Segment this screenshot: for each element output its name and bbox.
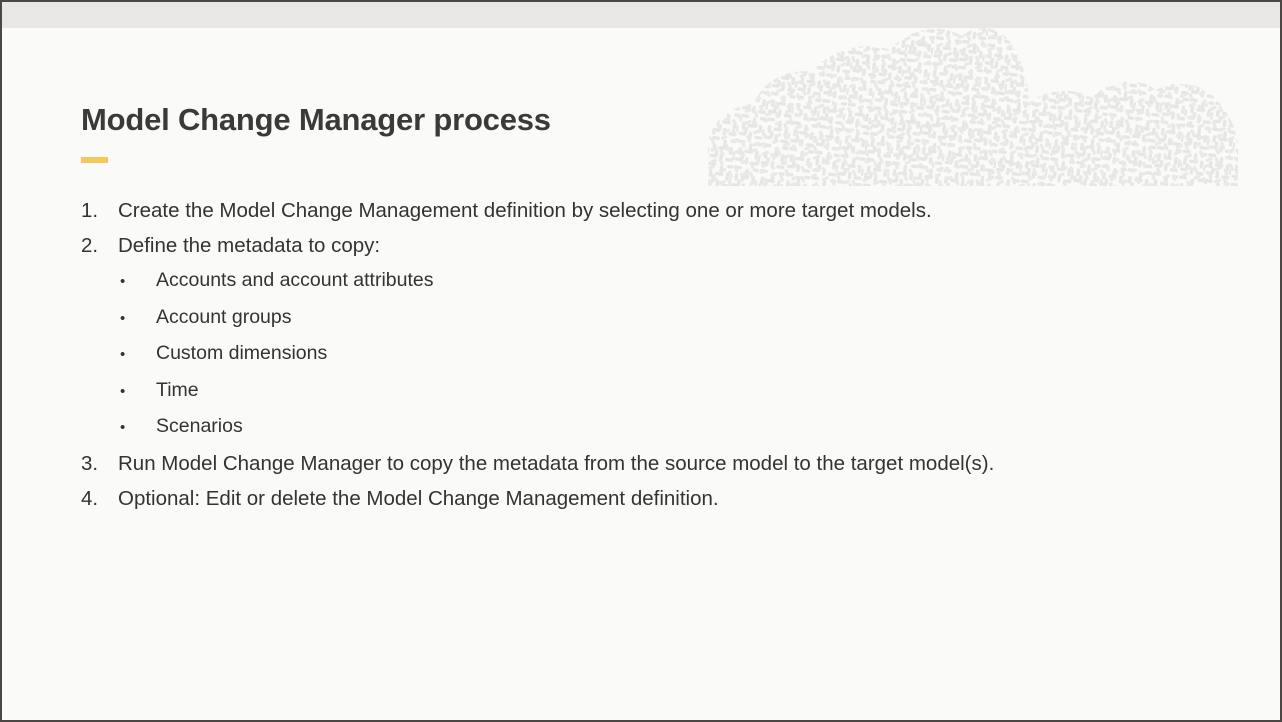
list-item: 3. Run Model Change Manager to copy the …	[81, 446, 1201, 481]
list-item: • Account groups	[81, 300, 1201, 337]
list-item-text: Run Model Change Manager to copy the met…	[118, 446, 994, 481]
list-item-text: Custom dimensions	[156, 336, 327, 372]
process-steps-list: 1. Create the Model Change Management de…	[81, 193, 1201, 516]
list-item-marker: 4.	[81, 481, 118, 516]
list-item-text: Create the Model Change Management defin…	[118, 193, 932, 228]
sub-bullet-list: • Accounts and account attributes • Acco…	[81, 263, 1201, 446]
bullet-marker-icon: •	[120, 301, 156, 337]
list-item: 1. Create the Model Change Management de…	[81, 193, 1201, 228]
list-item-text: Time	[156, 373, 199, 409]
bullet-marker-icon: •	[120, 410, 156, 446]
bullet-marker-icon: •	[120, 374, 156, 410]
list-item-text: Accounts and account attributes	[156, 263, 434, 299]
list-item: • Scenarios	[81, 409, 1201, 446]
list-item: 4. Optional: Edit or delete the Model Ch…	[81, 481, 1201, 516]
title-accent-bar	[81, 157, 108, 163]
list-item: • Time	[81, 373, 1201, 410]
bullet-marker-icon: •	[120, 337, 156, 373]
presentation-slide-window: Model Change Manager process 1. Create t…	[0, 0, 1282, 722]
list-item-text: Define the metadata to copy:	[118, 228, 380, 263]
list-item-text: Scenarios	[156, 409, 243, 445]
application-top-strip	[2, 2, 1280, 28]
list-item: 2. Define the metadata to copy:	[81, 228, 1201, 263]
list-item-text: Optional: Edit or delete the Model Chang…	[118, 481, 719, 516]
list-item: • Accounts and account attributes	[81, 263, 1201, 300]
slide-content-area: Model Change Manager process 1. Create t…	[0, 28, 1282, 720]
page-title: Model Change Manager process	[81, 102, 551, 138]
list-item-text: Account groups	[156, 300, 292, 336]
list-item-marker: 3.	[81, 446, 118, 481]
list-item-marker: 1.	[81, 193, 118, 228]
list-item-marker: 2.	[81, 228, 118, 263]
bullet-marker-icon: •	[120, 264, 156, 300]
list-item: • Custom dimensions	[81, 336, 1201, 373]
